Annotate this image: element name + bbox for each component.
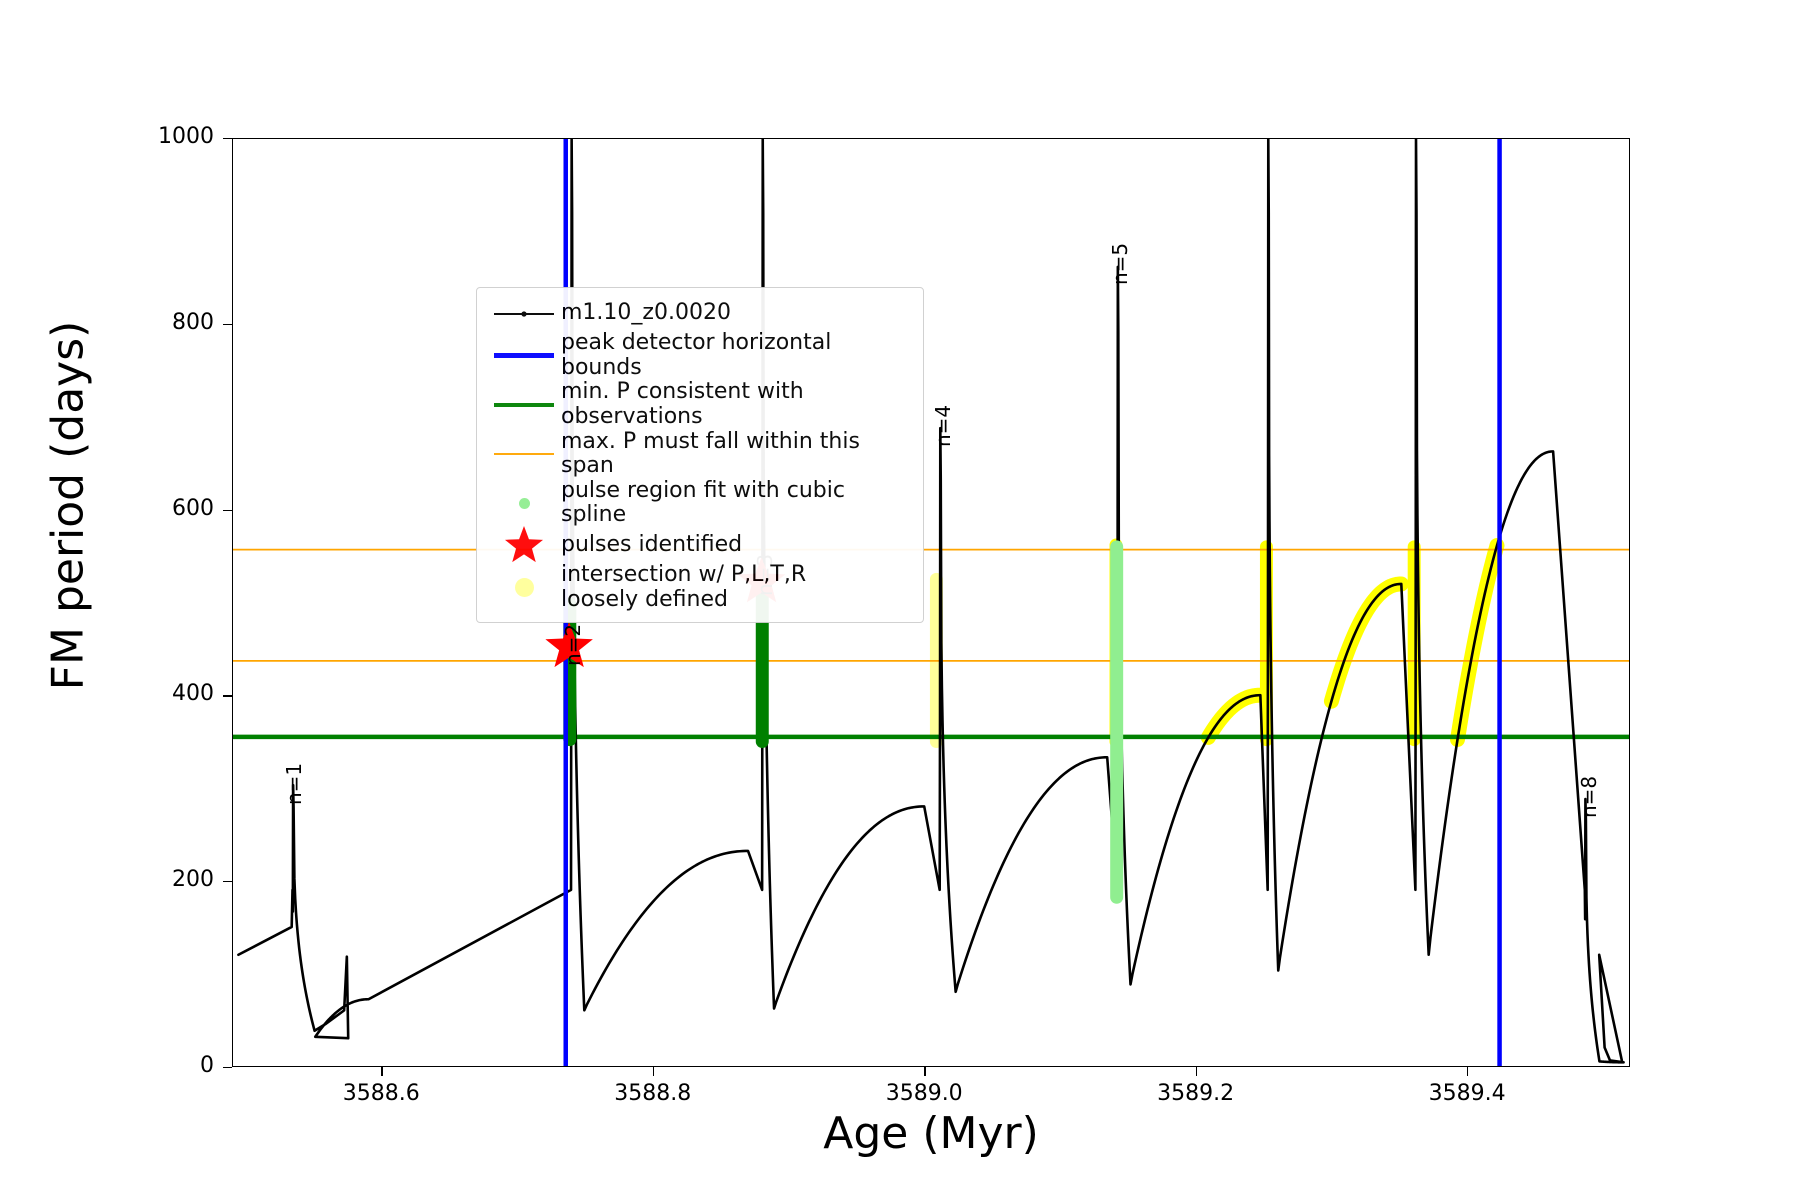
- legend-item[interactable]: max. P must fall within this span: [487, 430, 913, 479]
- y-tick-label: 600: [128, 496, 214, 521]
- x-axis-label: Age (Myr): [232, 1108, 1630, 1159]
- y-tick-label: 0: [128, 1053, 214, 1078]
- pulse-number-label: n=2: [561, 624, 585, 666]
- x-tick-label: 3588.8: [583, 1081, 723, 1106]
- legend-item[interactable]: pulses identified: [487, 528, 913, 563]
- y-tick-label: 200: [128, 867, 214, 892]
- legend-item-label: intersection w/ P,L,T,R loosely defined: [561, 563, 806, 612]
- y-tick-mark: [223, 510, 232, 511]
- legend-item-label: min. P consistent with observations: [561, 380, 913, 429]
- x-tick-mark: [381, 1067, 382, 1076]
- y-tick-label: 400: [128, 681, 214, 706]
- x-tick-mark: [924, 1067, 925, 1076]
- legend-item-label: pulses identified: [561, 533, 742, 558]
- loose-intersection-markers: [936, 545, 1497, 742]
- legend-line-marker-icon: [487, 298, 561, 330]
- y-tick-label: 1000: [128, 124, 214, 149]
- y-axis-label: FM period (days): [43, 226, 94, 786]
- pulse-number-label: n=5: [1108, 243, 1132, 285]
- legend-thin-line-icon: [487, 438, 561, 470]
- y-tick-mark: [223, 881, 232, 882]
- legend-thick-line-icon: [487, 340, 561, 372]
- legend-star-icon: [487, 530, 561, 562]
- chart-svg: [233, 139, 1629, 1066]
- y-tick-mark: [223, 324, 232, 325]
- pulse-number-label: n=4: [931, 405, 955, 447]
- x-tick-label: 3589.2: [1126, 1081, 1266, 1106]
- x-tick-label: 3588.6: [311, 1081, 451, 1106]
- legend-item-label: pulse region fit with cubic spline: [561, 479, 913, 528]
- legend-item-label: max. P must fall within this span: [561, 430, 913, 479]
- x-tick-label: 3589.0: [854, 1081, 994, 1106]
- legend-dot-icon: [487, 487, 561, 519]
- legend-item[interactable]: min. P consistent with observations: [487, 380, 913, 429]
- legend-item-label: peak detector horizontal bounds: [561, 331, 913, 380]
- legend-dot-icon: [487, 572, 561, 604]
- legend-item[interactable]: pulse region fit with cubic spline: [487, 479, 913, 528]
- x-tick-mark: [1467, 1067, 1468, 1076]
- y-tick-mark: [223, 1067, 232, 1068]
- x-tick-mark: [1196, 1067, 1197, 1076]
- pulse-number-label: n=1: [282, 762, 306, 804]
- legend[interactable]: m1.10_z0.0020peak detector horizontal bo…: [476, 287, 924, 623]
- pulse-number-label: n=8: [1577, 776, 1601, 818]
- x-tick-label: 3589.4: [1397, 1081, 1537, 1106]
- legend-thick-line-icon: [487, 389, 561, 421]
- legend-item[interactable]: m1.10_z0.0020: [487, 296, 913, 331]
- legend-item-label: m1.10_z0.0020: [561, 301, 731, 326]
- x-tick-mark: [653, 1067, 654, 1076]
- plot-area: m1.10_z0.0020peak detector horizontal bo…: [232, 138, 1630, 1067]
- y-tick-mark: [223, 695, 232, 696]
- legend-item[interactable]: peak detector horizontal bounds: [487, 331, 913, 380]
- y-tick-label: 800: [128, 310, 214, 335]
- figure-canvas: FM period (days) 02004006008001000 m1.10…: [0, 0, 1800, 1200]
- y-tick-mark: [223, 138, 232, 139]
- legend-item[interactable]: intersection w/ P,L,T,R loosely defined: [487, 563, 913, 612]
